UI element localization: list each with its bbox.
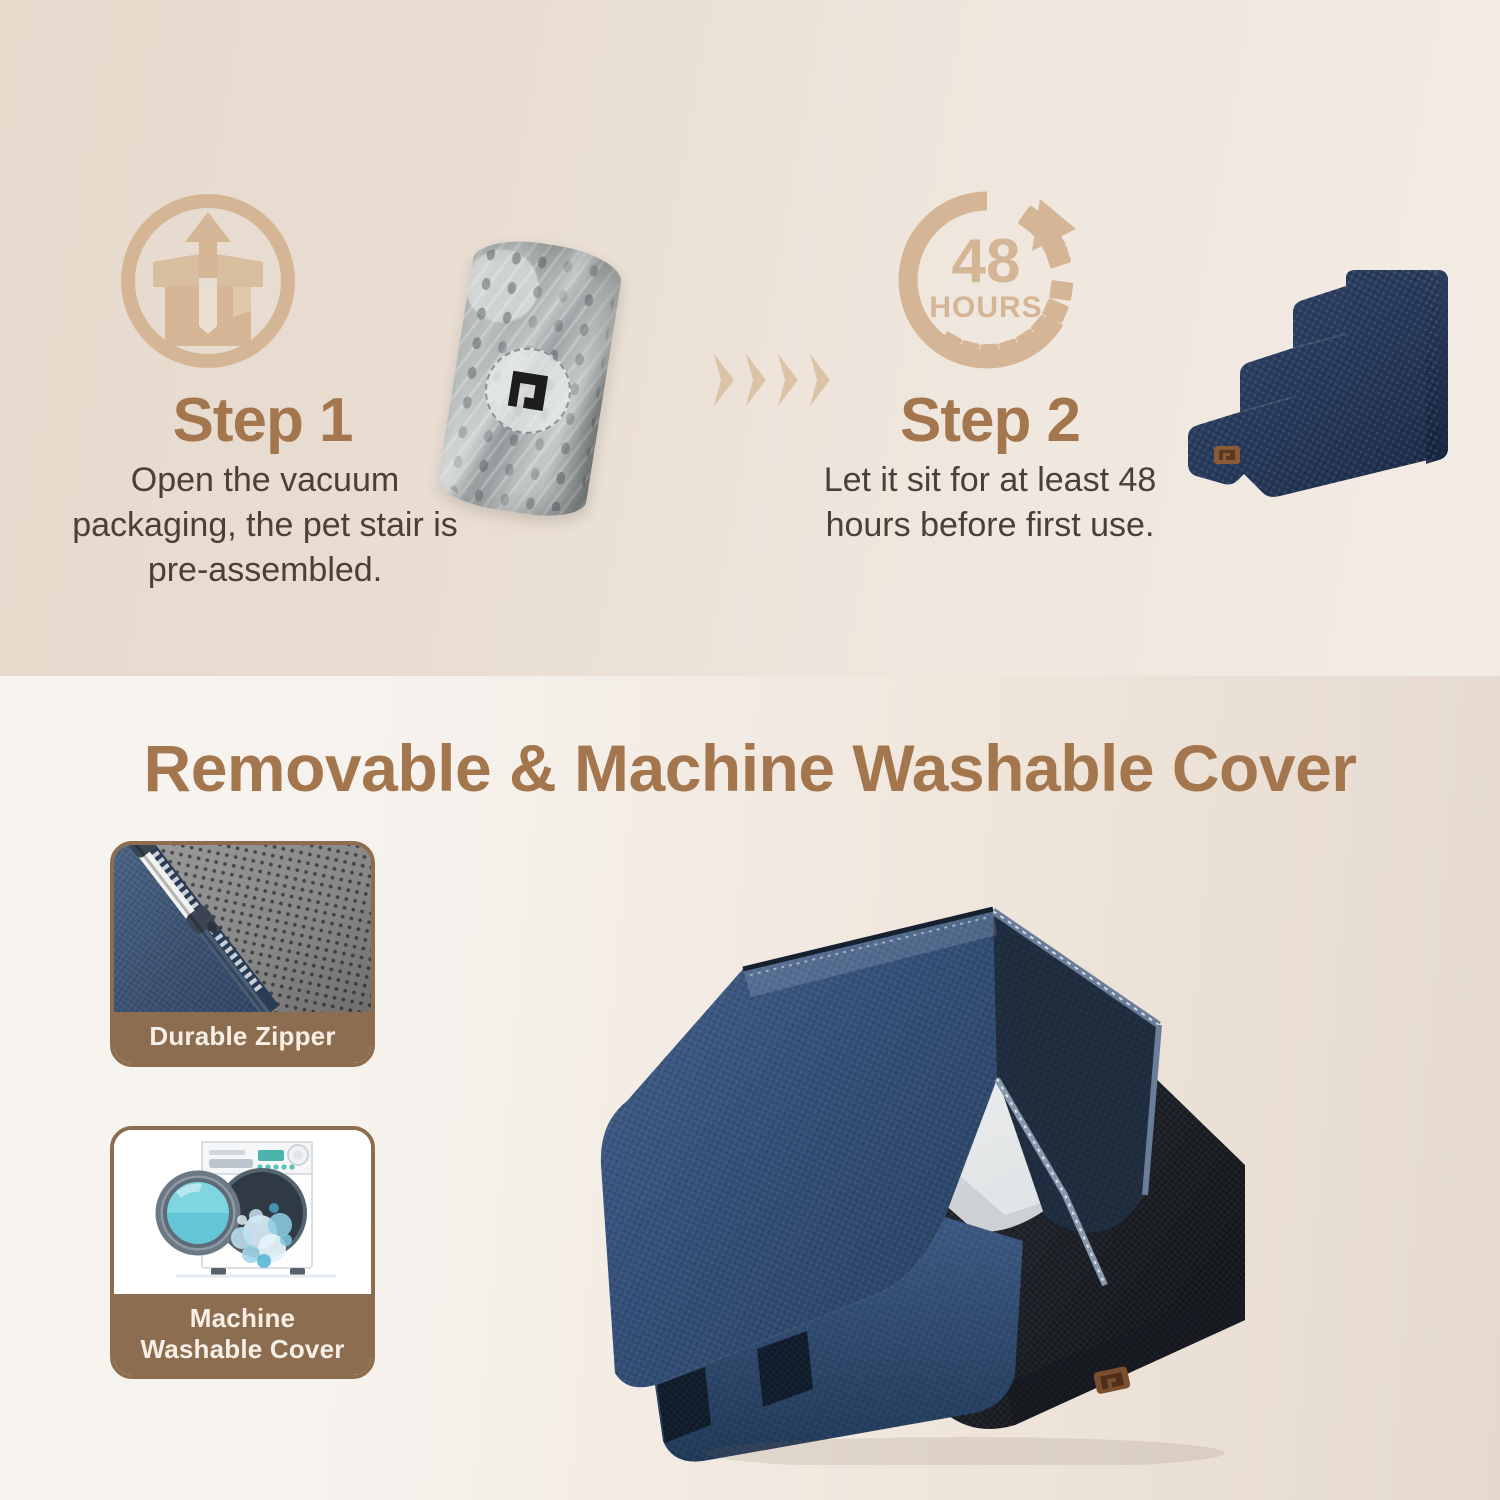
feature-card-label-line1: Machine: [190, 1303, 295, 1333]
step-2-description: Let it sit for at least 48 hours before …: [795, 458, 1185, 548]
feature-card-durable-zipper: Durable Zipper: [110, 841, 375, 1067]
zipper-photo: [114, 845, 371, 1012]
chevron-right-icon: [776, 352, 801, 408]
page-headline: Removable & Machine Washable Cover: [0, 730, 1500, 806]
hours-unit-label: HOURS: [929, 291, 1042, 324]
feature-card-machine-washable: Machine Washable Cover: [110, 1126, 375, 1379]
pet-stair-product-photo: [1180, 252, 1462, 502]
chevron-right-icon: [744, 352, 769, 408]
hero-product-photo: [545, 865, 1285, 1465]
step-1-description: Open the vacuum packaging, the pet stair…: [60, 458, 470, 593]
steps-section: Step 1 Open the vacuum packaging, the pe…: [0, 0, 1500, 676]
vacuum-packed-roll-photo: [435, 233, 625, 523]
washing-machine-icon: [114, 1130, 371, 1294]
brand-logo-icon: [503, 366, 553, 416]
open-box-up-arrow-icon: [113, 186, 303, 376]
infographic-page: Step 1 Open the vacuum packaging, the pe…: [0, 0, 1500, 1500]
hours-number: 48: [952, 227, 1021, 296]
step-1-title: Step 1: [110, 385, 415, 456]
product-brand-tag: [1214, 446, 1240, 464]
chevron-right-icon: [808, 352, 833, 408]
feature-card-label-line2: Washable Cover: [140, 1334, 344, 1364]
chevron-right-icons: [712, 352, 833, 408]
feature-card-label: Durable Zipper: [114, 1012, 371, 1063]
chevron-right-icon: [712, 352, 737, 408]
step-2-title: Step 2: [835, 385, 1145, 456]
48-hours-clock-arrow-icon: 48 HOURS: [890, 185, 1085, 375]
feature-card-label: Machine Washable Cover: [114, 1294, 371, 1375]
